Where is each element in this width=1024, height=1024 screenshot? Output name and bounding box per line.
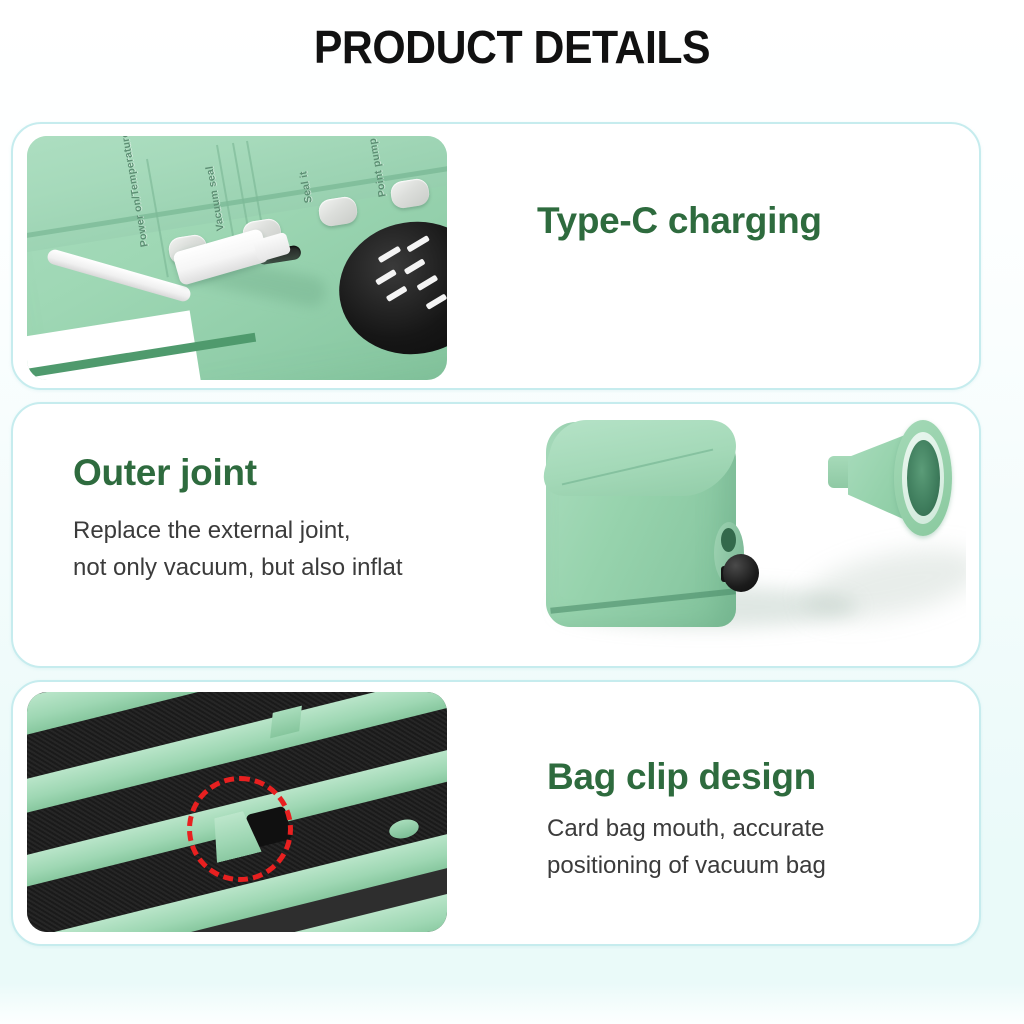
panel-3-body-line-1: Card bag mouth, accurate [547,810,826,847]
panel-1-text-column: Type-C charging [537,200,822,242]
funnel-opening [907,440,940,516]
panel-3-heading: Bag clip design [547,756,826,798]
panel-1-heading: Type-C charging [537,200,822,242]
product-photo-outer-joint [518,414,966,652]
panel-type-c-charging: Power on/Temperature Vacuum seal Seal it… [11,122,981,390]
panel-2-heading: Outer joint [73,452,403,494]
panel-2-body-line-2: not only vacuum, but also inflat [73,549,403,586]
joint-port-hole [721,528,736,552]
black-valve-plug [723,554,759,592]
red-dashed-highlight-circle [187,776,293,882]
panel-3-body-line-2: positioning of vacuum bag [547,847,826,884]
product-photo-bag-clip [27,692,447,932]
sealer-body-top [537,420,745,496]
page-title: PRODUCT DETAILS [36,0,988,74]
panel-2-text-column: Outer joint Replace the external joint, … [73,452,403,586]
product-photo-type-c-charging: Power on/Temperature Vacuum seal Seal it… [27,136,447,380]
panel-2-body-line-1: Replace the external joint, [73,512,403,549]
panel-bag-clip-design: Bag clip design Card bag mouth, accurate… [11,680,981,946]
panel-3-text-column: Bag clip design Card bag mouth, accurate… [547,756,826,884]
panel-outer-joint: Outer joint Replace the external joint, … [11,402,981,668]
